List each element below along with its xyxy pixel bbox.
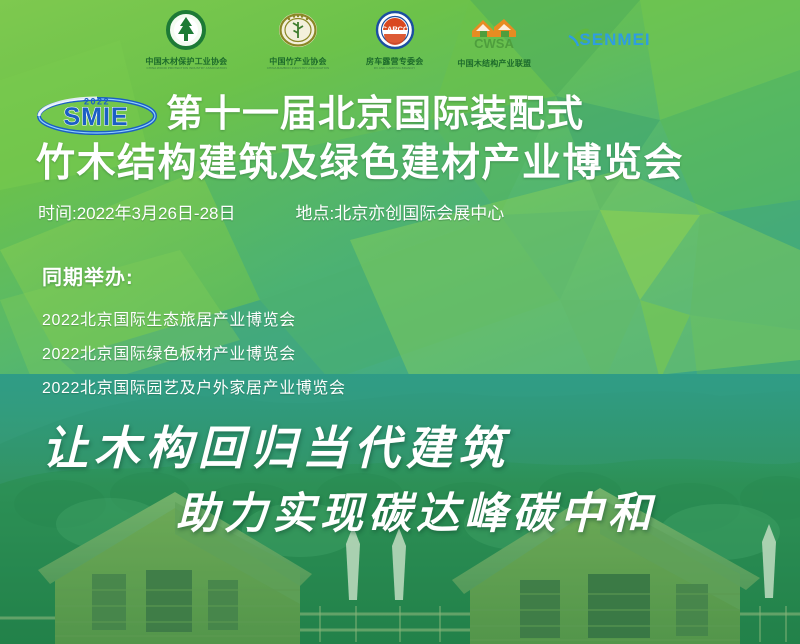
event-venue: 地点:北京亦创国际会展中心 — [295, 203, 504, 225]
list-item: 2022北京国际绿色板材产业博览会 — [42, 338, 346, 372]
slogan-line-2: 助力实现碳达峰碳中和 — [176, 487, 656, 541]
sponsor-logo-strip: 中国木材保护工业协会 CHINA WOOD PROTECTION INDUSTR… — [0, 8, 800, 70]
sponsor-logo-china-bamboo-industry-association: 中国竹产业协会 CHINA BAMBOO INDUSTRY ASSOCIATIO… — [264, 9, 332, 70]
sponsor-logo-label: 房车露营专委会 — [366, 57, 423, 66]
concurrent-events-list: 2022北京国际生态旅居产业博览会 2022北京国际绿色板材产业博览会 2022… — [42, 304, 346, 406]
title-block: 2022 SMIE 第十一届北京国际装配式 竹木结构建筑及绿色建材产业博览会 — [36, 92, 776, 188]
smie-ellipse-logo-icon: 2022 SMIE — [36, 92, 158, 136]
list-item: 2022北京国际园艺及户外家居产业博览会 — [42, 372, 346, 406]
slogan-line-1: 让木构回归当代建筑 — [42, 419, 510, 477]
list-item: 2022北京国际生态旅居产业博览会 — [42, 304, 346, 338]
sponsor-logo-china-wood-protection-association: 中国木材保护工业协会 CHINA WOOD PROTECTION INDUSTR… — [143, 9, 230, 70]
headline-line-2: 竹木结构建筑及绿色建材产业博览会 — [36, 140, 776, 188]
svg-text:CWSA: CWSA — [474, 36, 514, 51]
sponsor-logo-label: 中国木材保护工业协会 — [145, 57, 227, 66]
sponsor-logo-label: 中国木结构产业联盟 — [457, 59, 531, 68]
sponsor-logo-sublabel: CHINA WOOD PROTECTION INDUSTRY ASSOCIATI… — [146, 66, 226, 70]
svg-text:SMIE: SMIE — [63, 103, 128, 131]
sponsor-logo-cwsa-china-wood-structure-alliance: CWSA 中国木结构产业联盟 — [457, 11, 531, 68]
event-date: 时间:2022年3月26日-28日 — [38, 203, 235, 225]
sponsor-logo-sublabel: CHINA BAMBOO INDUSTRY ASSOCIATION — [267, 66, 330, 70]
concurrent-events-heading: 同期举办: — [42, 264, 346, 292]
sponsor-logo-sublabel: RV AND CAMPING BRANCH — [374, 66, 415, 70]
concurrent-events-section: 同期举办: 2022北京国际生态旅居产业博览会 2022北京国际绿色板材产业博览… — [42, 264, 346, 406]
bamboo-seal-icon — [277, 9, 319, 56]
svg-text:CARCC: CARCC — [381, 24, 408, 33]
pine-tree-shield-icon — [165, 9, 207, 56]
house-roof-cwsa-icon: CWSA — [466, 11, 522, 58]
svg-text:SENMEI: SENMEI — [580, 30, 651, 49]
event-meta-row: 时间:2022年3月26日-28日 地点:北京亦创国际会展中心 — [38, 203, 504, 225]
expo-poster: 中国木材保护工业协会 CHINA WOOD PROTECTION INDUSTR… — [0, 0, 800, 644]
headline-line-1: 第十一届北京国际装配式 — [166, 92, 584, 136]
sponsor-logo-carcc-rv-camping-committee: CARCC 房车露营专委会 RV AND CAMPING BRANCH — [366, 9, 423, 70]
carcc-badge-icon: CARCC — [374, 9, 416, 56]
sponsor-logo-label: 中国竹产业协会 — [269, 57, 326, 66]
sponsor-logo-senmei: SENMEI — [565, 20, 657, 59]
senmei-leaf-icon: SENMEI — [565, 20, 657, 59]
title-first-row: 2022 SMIE 第十一届北京国际装配式 — [36, 92, 776, 136]
